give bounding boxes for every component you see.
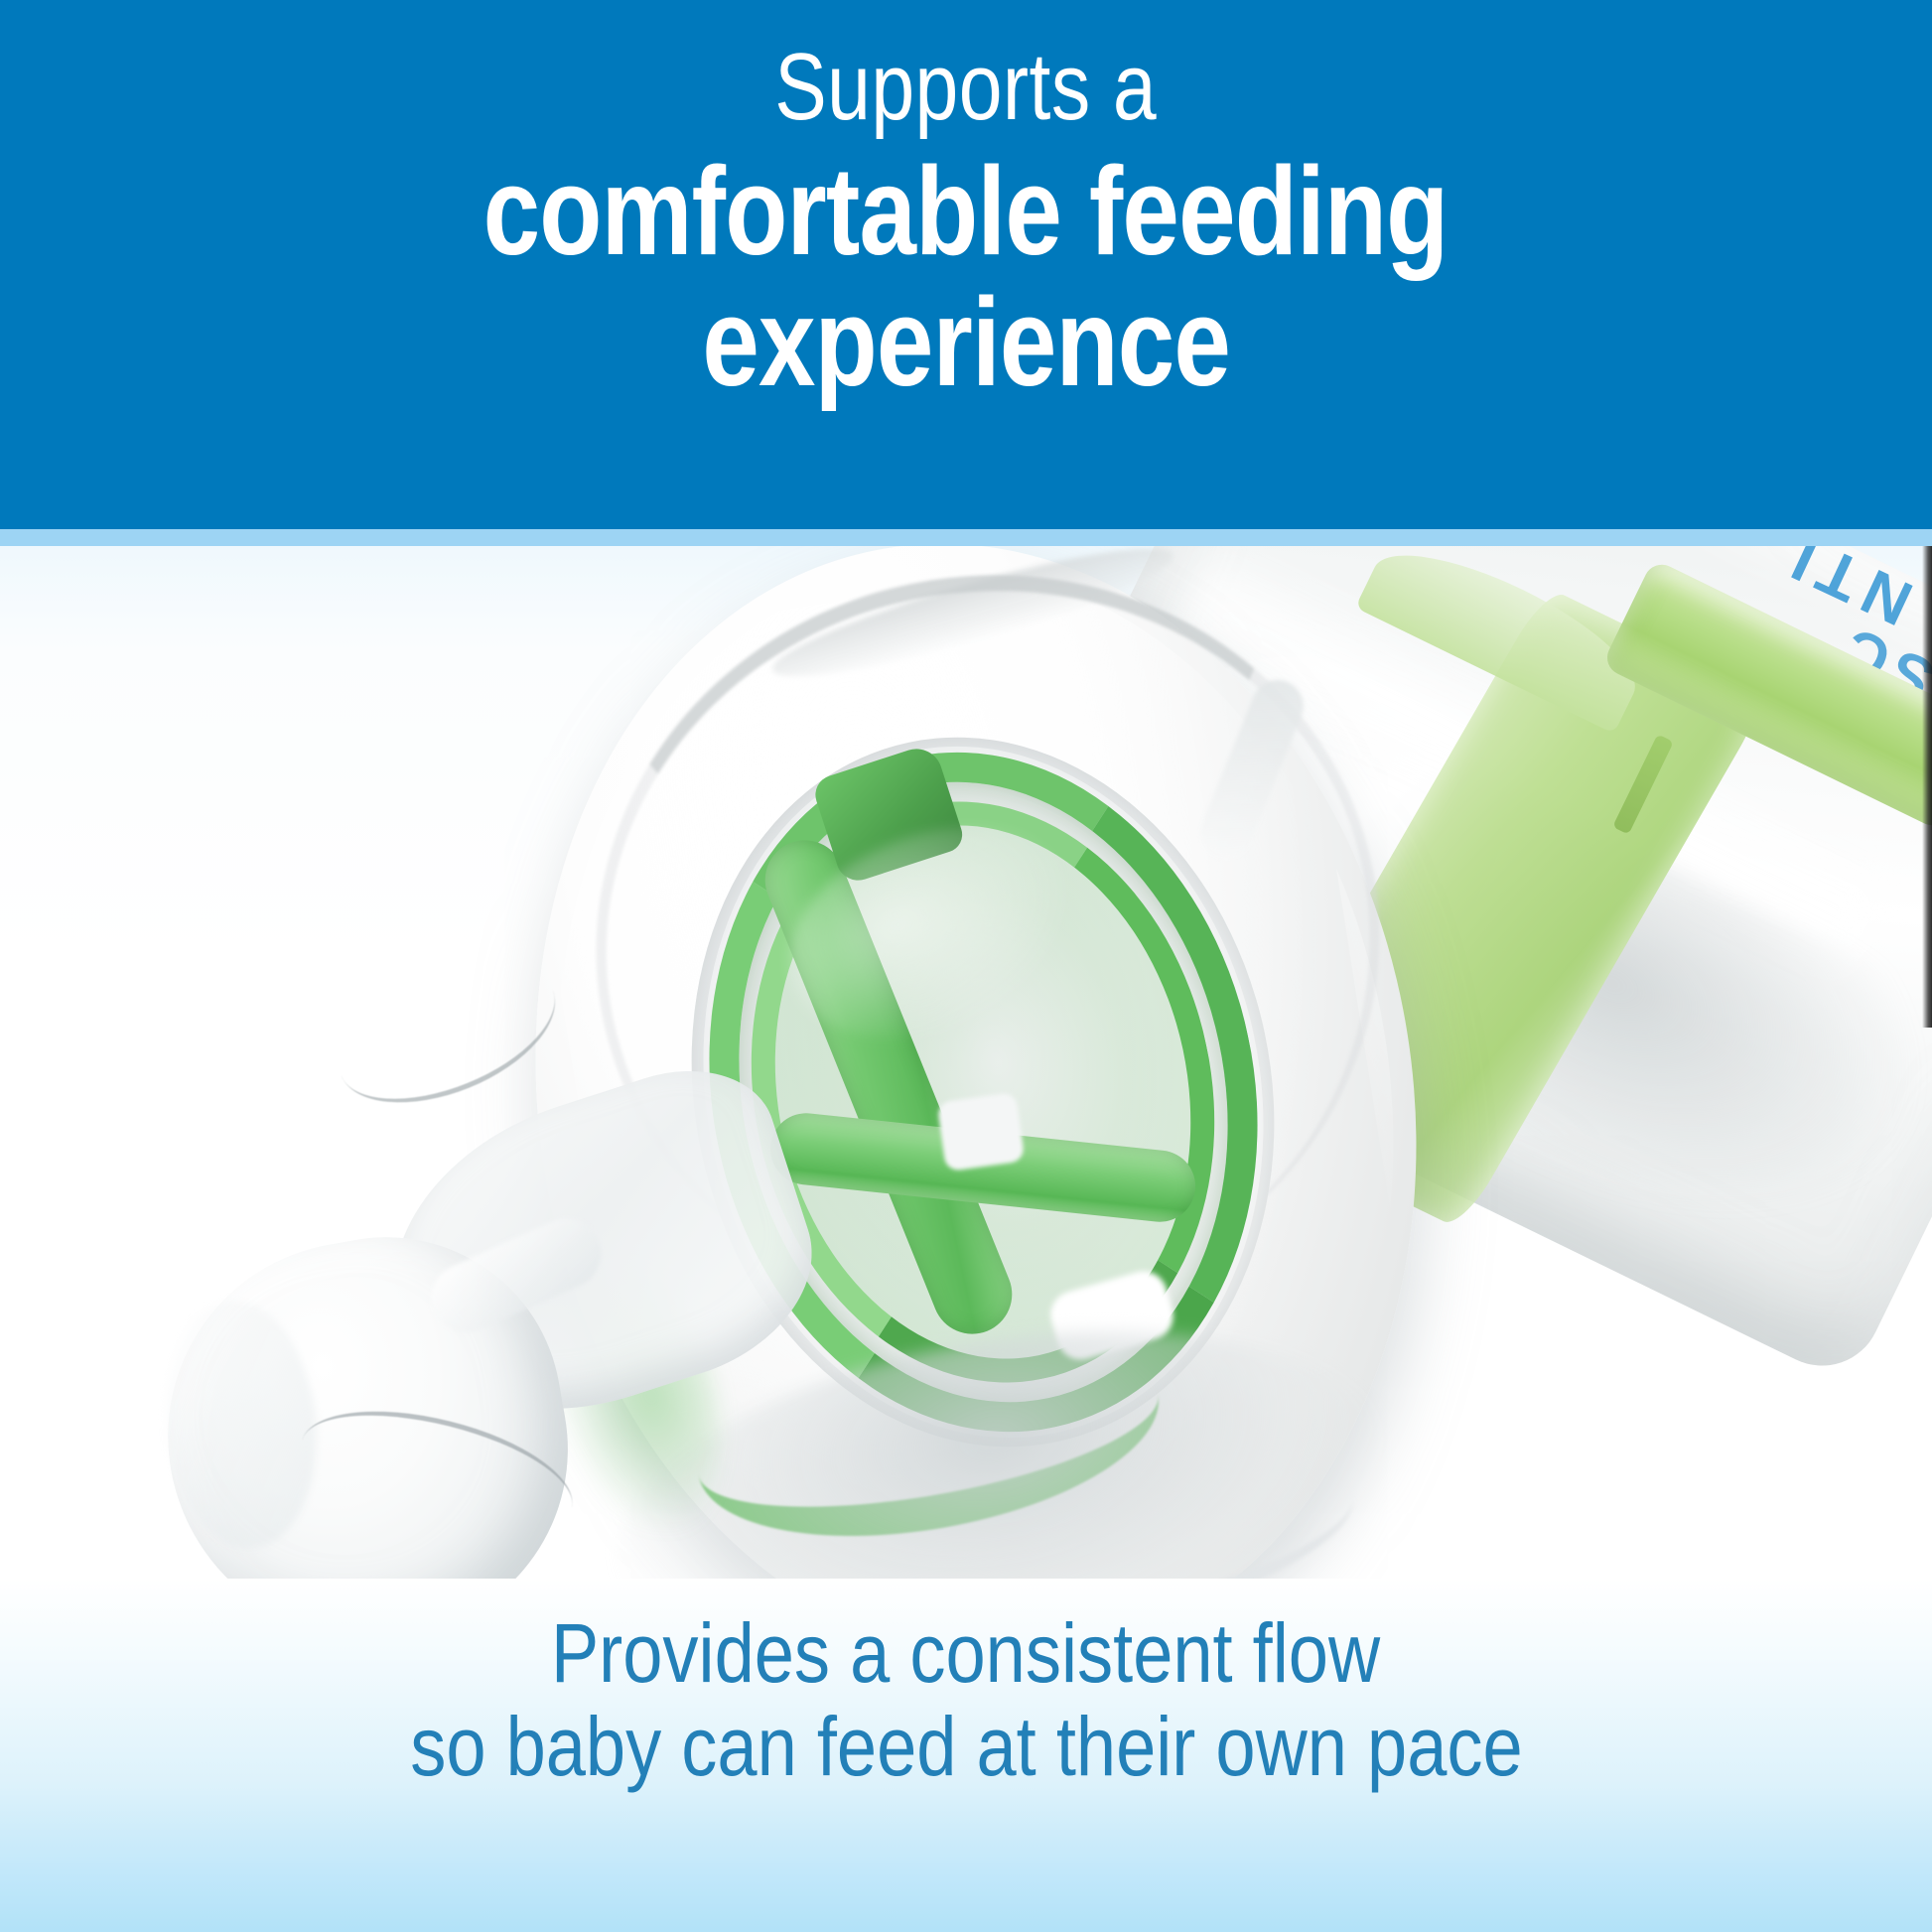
green-valve-gap-upper <box>937 1092 1026 1172</box>
divider-strip <box>0 529 1932 546</box>
header-line-2: comfortable feeding <box>483 149 1449 274</box>
caption-line-1: Provides a consistent flow <box>551 1606 1380 1700</box>
header-line-1: Supports a <box>775 40 1158 135</box>
header-line-3: experience <box>702 280 1230 405</box>
caption-block: Provides a consistent flow so baby can f… <box>0 1579 1932 1932</box>
product-feature-card: Supports a comfortable feeding experienc… <box>0 0 1932 1932</box>
caption-line-2: so baby can feed at their own pace <box>410 1700 1522 1793</box>
product-image: NTL JSC <box>0 546 1932 1579</box>
header-banner: Supports a comfortable feeding experienc… <box>0 0 1932 529</box>
photo-right-edge <box>1922 546 1932 1028</box>
